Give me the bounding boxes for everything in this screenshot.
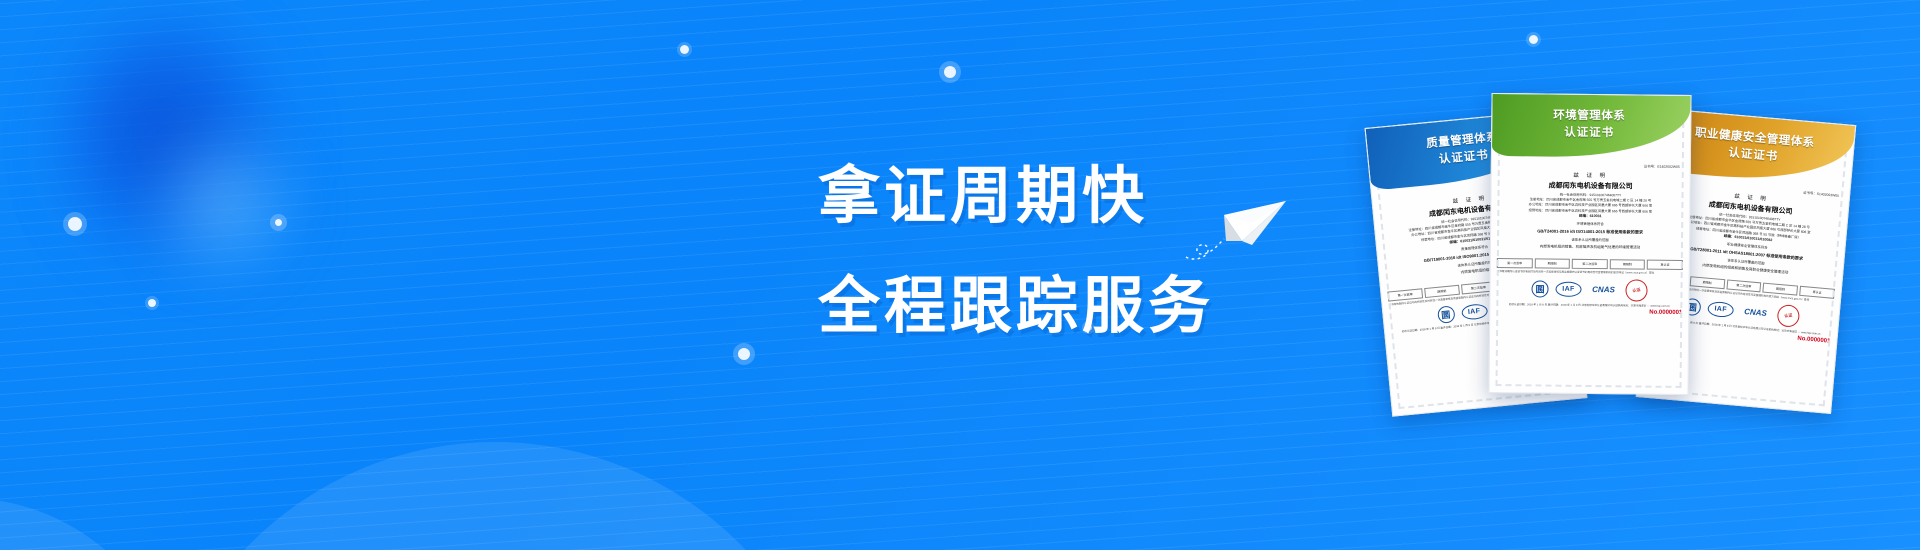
certificate-no-label: 证书号： xyxy=(1803,191,1817,196)
certificate-system-label: 环境管理体系符合 xyxy=(1499,220,1681,227)
certificate-title-line1: 环境管理体系 xyxy=(1553,106,1625,123)
certificate-attest-label: 兹 证 明 xyxy=(1500,170,1682,180)
certificate-title-line2: 认证证书 xyxy=(1564,123,1614,140)
certificate-group: 质量管理体系 认证证书 证书号：CT01062001ZW05 兹 证 明 成都闰… xyxy=(1378,88,1908,478)
decorative-dot-icon xyxy=(275,219,282,226)
decorative-dot-icon xyxy=(1529,35,1538,44)
certificate-scope-label: 该体系认证所覆盖的范围 xyxy=(1499,236,1681,243)
decorative-dot-icon xyxy=(944,66,956,78)
decorative-dot-icon xyxy=(680,45,689,54)
decorative-circle-small xyxy=(0,498,180,550)
decorative-circle-large xyxy=(150,442,840,550)
paper-plane-icon xyxy=(1180,185,1290,260)
certificate-org-name: 成都闰东电机设备有限公司 xyxy=(1500,180,1682,192)
certificate-environment[interactable]: 环境管理体系 认证证书 证书号：E1402002W05 兹 证 明 成都闰东电机… xyxy=(1488,93,1691,395)
decorative-dot-icon xyxy=(68,217,82,231)
certificate-no: E1402002W05 xyxy=(1657,165,1679,169)
headline-block: 拿证周期快 全程跟踪服务 xyxy=(818,142,1214,362)
promo-banner: 拿证周期快 全程跟踪服务 质量管理体系 认证证书 证书号：CT01062001Z… xyxy=(0,0,1920,550)
certificate-standard: GB/T24001-2016 idt ISO14001:2015 标准使用条款的… xyxy=(1499,228,1681,236)
certificate-title-line2: 认证证书 xyxy=(1438,146,1489,167)
certificate-scope: 内燃发电机组的销售、机房噪声及机组尾气处理的环境管理活动 xyxy=(1499,244,1681,251)
certificate-postcode: 邮编：610031 xyxy=(1579,214,1602,218)
glow-orb-light-icon xyxy=(140,120,310,290)
decorative-dot-icon xyxy=(738,348,750,360)
headline-line-2: 全程跟踪服务 xyxy=(818,252,1214,362)
headline-line-1: 拿证周期快 xyxy=(818,142,1214,252)
certificate-title-line2: 认证证书 xyxy=(1728,144,1779,164)
certificate-no: S1402003W05 xyxy=(1817,192,1840,198)
certificate-no-label: 证书号： xyxy=(1644,165,1658,169)
decorative-dot-icon xyxy=(148,299,156,307)
